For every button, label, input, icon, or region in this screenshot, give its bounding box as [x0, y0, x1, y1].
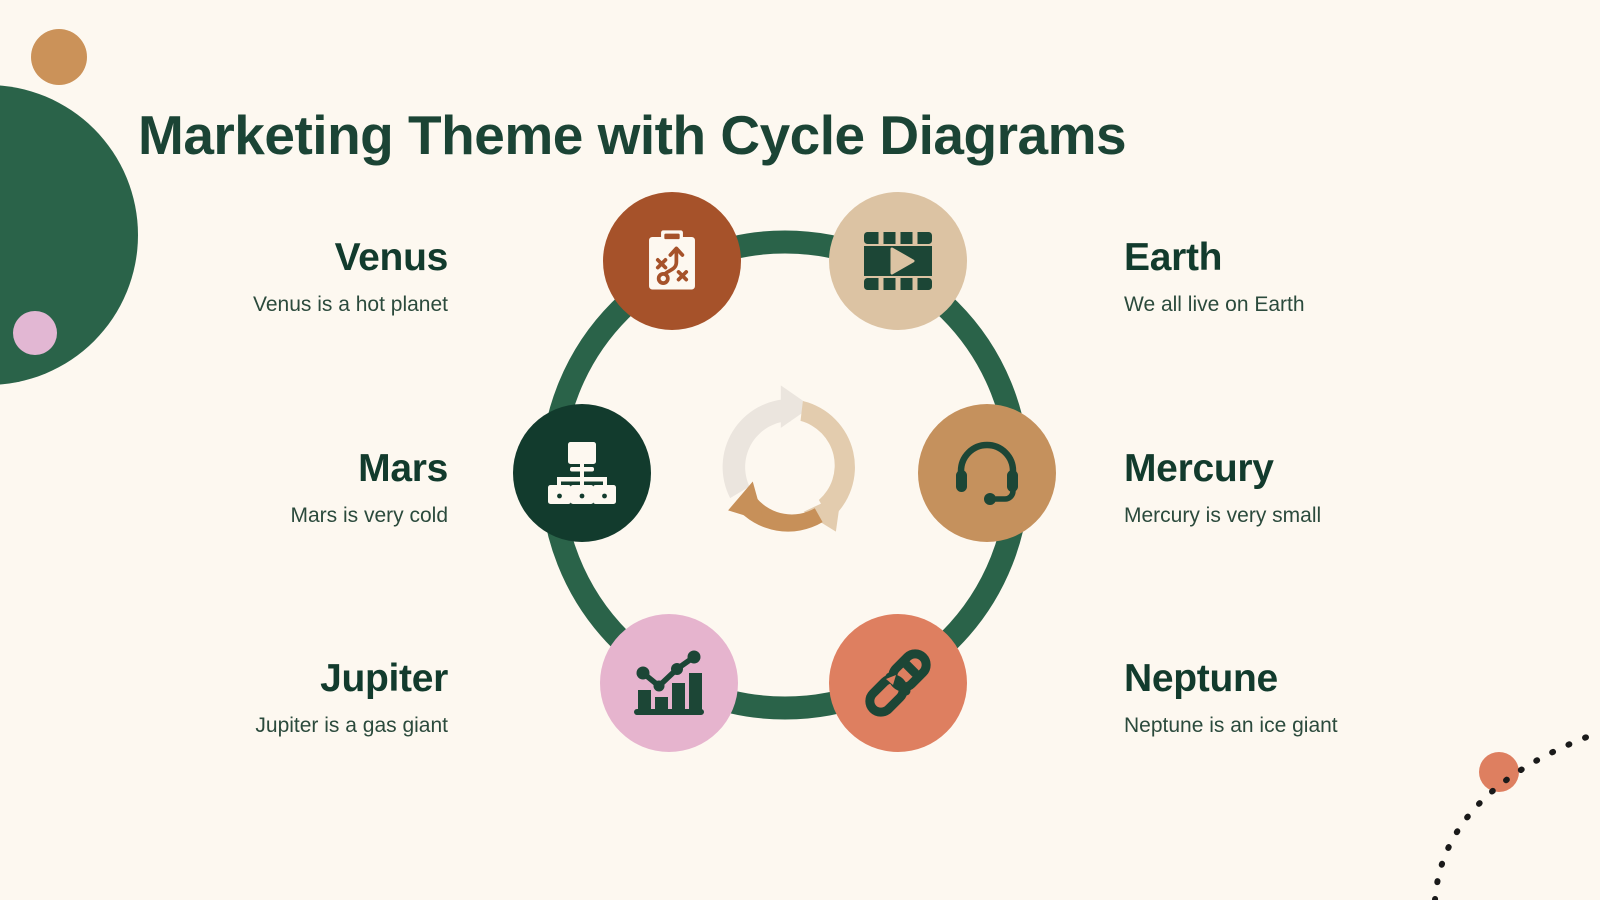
cycle-node-earth[interactable]: [829, 192, 967, 330]
planet-name-venus: Venus: [253, 238, 448, 279]
planet-description-mars: Mars is very cold: [290, 504, 448, 528]
strategy-clipboard-icon: [637, 226, 707, 296]
cycle-node-neptune[interactable]: [829, 614, 967, 752]
cycle-diagram: [0, 0, 1600, 900]
cycle-node-venus[interactable]: [603, 192, 741, 330]
planet-description-earth: We all live on Earth: [1124, 293, 1305, 317]
planet-description-jupiter: Jupiter is a gas giant: [255, 714, 448, 738]
planet-name-mars: Mars: [290, 449, 448, 490]
planet-name-neptune: Neptune: [1124, 659, 1338, 700]
label-block-mars: Mars Mars is very cold: [290, 449, 448, 528]
headset-support-icon: [951, 439, 1023, 507]
planet-description-mercury: Mercury is very small: [1124, 504, 1321, 528]
planet-name-mercury: Mercury: [1124, 449, 1321, 490]
planet-description-neptune: Neptune is an ice giant: [1124, 714, 1338, 738]
org-chart-hierarchy-icon: [544, 438, 620, 508]
cycle-node-jupiter[interactable]: [600, 614, 738, 752]
bar-chart-growth-icon: [632, 650, 706, 716]
video-film-play-icon: [861, 228, 935, 294]
planet-description-venus: Venus is a hot planet: [253, 293, 448, 317]
label-block-venus: Venus Venus is a hot planet: [253, 238, 448, 317]
label-block-neptune: Neptune Neptune is an ice giant: [1124, 659, 1338, 738]
chain-link-icon: [862, 647, 934, 719]
label-block-mercury: Mercury Mercury is very small: [1124, 449, 1321, 528]
label-block-jupiter: Jupiter Jupiter is a gas giant: [255, 659, 448, 738]
planet-name-earth: Earth: [1124, 238, 1305, 279]
cycle-node-mercury[interactable]: [918, 404, 1056, 542]
cycle-node-mars[interactable]: [513, 404, 651, 542]
recycle-cycle-arrows-icon: [706, 382, 876, 552]
label-block-earth: Earth We all live on Earth: [1124, 238, 1305, 317]
planet-name-jupiter: Jupiter: [255, 659, 448, 700]
